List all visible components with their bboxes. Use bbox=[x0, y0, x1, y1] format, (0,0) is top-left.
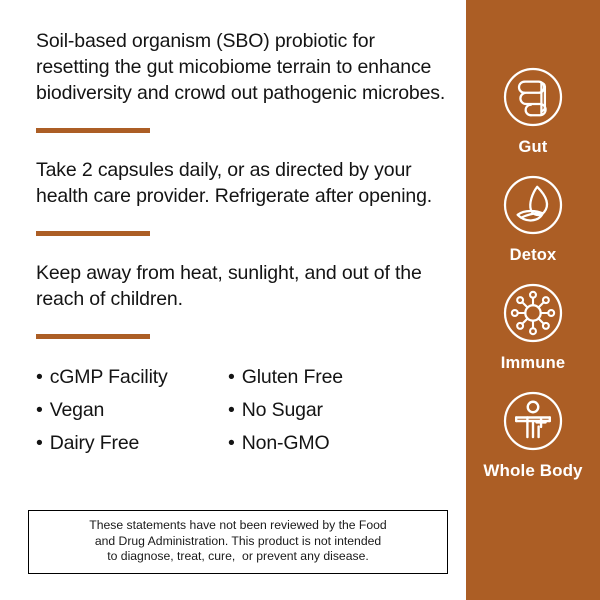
list-item: •cGMP Facility bbox=[36, 363, 228, 392]
benefit-label: Immune bbox=[501, 353, 565, 373]
leaf-icon bbox=[498, 170, 568, 240]
virus-cell-icon bbox=[498, 278, 568, 348]
disclaimer-line: and Drug Administration. This product is… bbox=[39, 534, 437, 550]
human-body-cross-icon bbox=[498, 386, 568, 456]
intestine-icon bbox=[498, 62, 568, 132]
benefit-label: Detox bbox=[510, 245, 557, 265]
feature-label: Dairy Free bbox=[50, 432, 140, 454]
feature-label: Gluten Free bbox=[242, 366, 343, 388]
bullet-icon: • bbox=[36, 399, 43, 421]
list-item: •Dairy Free bbox=[36, 429, 228, 458]
benefit-item-whole-body: Whole Body bbox=[466, 386, 600, 481]
feature-list: •cGMP Facility •Gluten Free •Vegan •No S… bbox=[36, 363, 446, 458]
dosage-paragraph: Take 2 capsules daily, or as directed by… bbox=[36, 157, 446, 209]
list-item: •Vegan bbox=[36, 396, 228, 425]
list-item: •No Sugar bbox=[228, 396, 446, 425]
description-paragraph: Soil-based organism (SBO) probiotic for … bbox=[36, 28, 446, 106]
bullet-icon: • bbox=[228, 366, 235, 388]
benefit-item-immune: Immune bbox=[466, 278, 600, 373]
list-item: •Non-GMO bbox=[228, 429, 446, 458]
fda-disclaimer-box: These statements have not been reviewed … bbox=[28, 510, 448, 574]
benefit-item-gut: Gut bbox=[466, 62, 600, 157]
disclaimer-line: These statements have not been reviewed … bbox=[39, 518, 437, 534]
bullet-icon: • bbox=[36, 432, 43, 454]
supplement-label-panel: Soil-based organism (SBO) probiotic for … bbox=[0, 0, 600, 600]
benefit-item-detox: Detox bbox=[466, 170, 600, 265]
benefit-label: Whole Body bbox=[483, 461, 582, 481]
bullet-icon: • bbox=[228, 432, 235, 454]
benefit-label: Gut bbox=[518, 137, 547, 157]
bullet-icon: • bbox=[228, 399, 235, 421]
feature-label: Non-GMO bbox=[242, 432, 330, 454]
feature-label: Vegan bbox=[50, 399, 105, 421]
storage-warning-paragraph: Keep away from heat, sunlight, and out o… bbox=[36, 260, 446, 312]
feature-label: cGMP Facility bbox=[50, 366, 168, 388]
list-item: •Gluten Free bbox=[228, 363, 446, 392]
benefit-sidebar: Gut Detox bbox=[466, 0, 600, 600]
bullet-icon: • bbox=[36, 366, 43, 388]
feature-label: No Sugar bbox=[242, 399, 323, 421]
disclaimer-line: to diagnose, treat, cure, or prevent any… bbox=[39, 549, 437, 565]
